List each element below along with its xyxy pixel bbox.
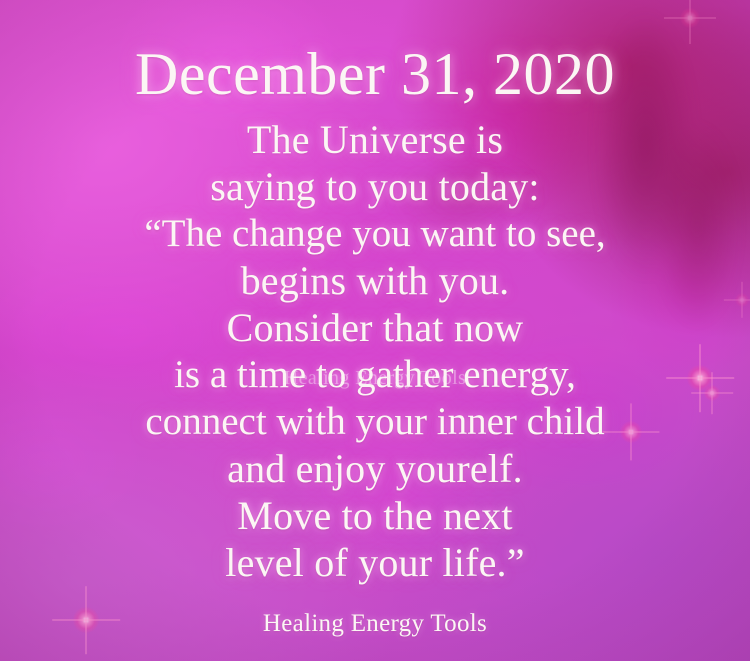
page-title: December 31, 2020 bbox=[135, 44, 615, 104]
quote-line: “The change you want to see, bbox=[144, 210, 605, 257]
quote-line: Consider that now bbox=[227, 304, 524, 351]
quote-line: connect with your inner child bbox=[145, 398, 604, 445]
quote-card: December 31, 2020 The Universe issaying … bbox=[0, 0, 750, 661]
quote-line: The Universe is bbox=[247, 116, 503, 163]
quote-line: and enjoy yourelf. bbox=[227, 445, 523, 492]
attribution-label: Healing Energy Tools bbox=[0, 610, 750, 638]
quote-text: The Universe issaying to you today:“The … bbox=[144, 116, 605, 586]
quote-line: begins with you. bbox=[241, 257, 510, 304]
quote-line: is a time to gather energy, bbox=[174, 351, 576, 398]
quote-line: level of your life.” bbox=[225, 539, 524, 586]
quote-line: Move to the next bbox=[237, 492, 512, 539]
card-content: December 31, 2020 The Universe issaying … bbox=[0, 0, 750, 661]
quote-line: saying to you today: bbox=[210, 163, 540, 210]
